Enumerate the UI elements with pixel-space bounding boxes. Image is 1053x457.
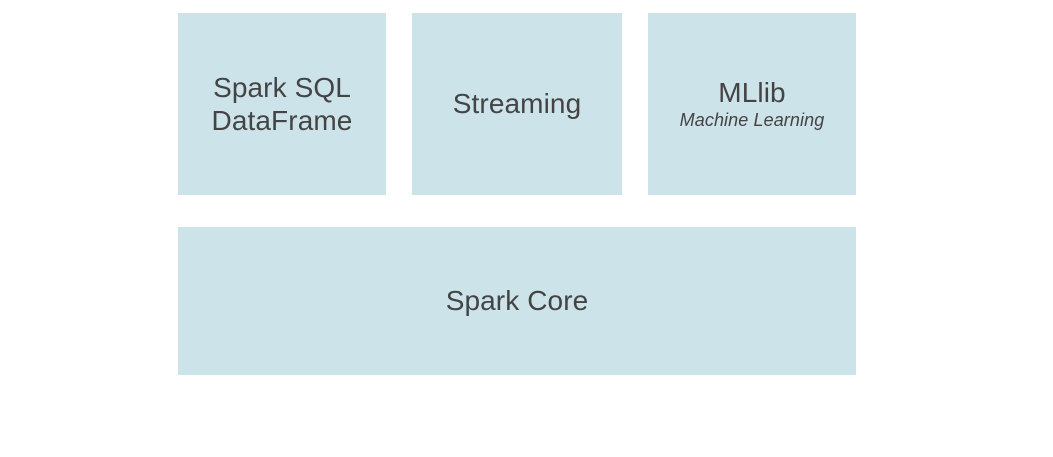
diagram-node-mllib[interactable]: MLlib Machine Learning — [648, 13, 856, 195]
diagram-canvas: Spark SQL DataFrame Streaming MLlib Mach… — [0, 0, 1053, 457]
node-title: Spark Core — [446, 284, 589, 317]
node-subtitle: Machine Learning — [680, 110, 825, 131]
diagram-node-streaming[interactable]: Streaming — [412, 13, 622, 195]
diagram-node-spark-core[interactable]: Spark Core — [178, 227, 856, 375]
diagram-node-spark-sql[interactable]: Spark SQL DataFrame — [178, 13, 386, 195]
node-title: Streaming — [453, 87, 582, 120]
node-title: Spark SQL DataFrame — [212, 71, 353, 137]
node-title: MLlib — [718, 76, 785, 109]
